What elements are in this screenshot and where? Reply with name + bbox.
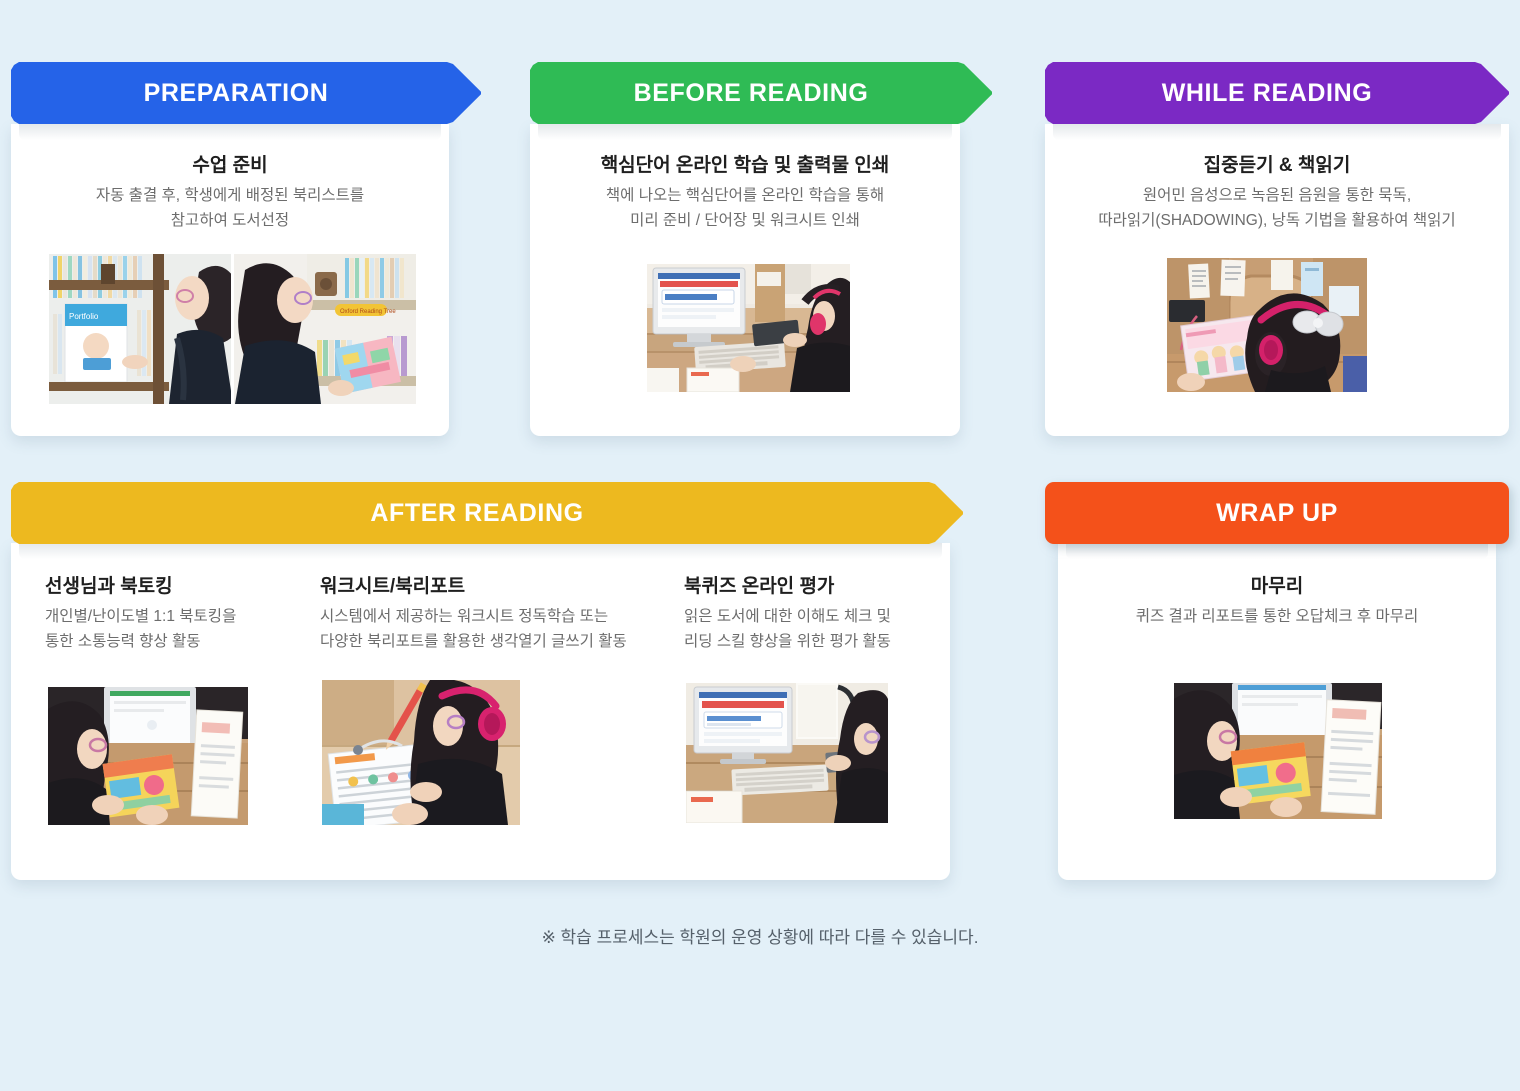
step-banner-label: PREPARATION <box>144 79 329 108</box>
step-banner-label: BEFORE READING <box>634 79 869 108</box>
item-title: 북퀴즈 온라인 평가 <box>684 575 924 600</box>
item-description: 개인별/난이도별 1:1 북토킹을 통한 소통능력 향상 활동 <box>45 604 315 654</box>
photo-illustration <box>647 264 850 392</box>
item-title: 핵심단어 온라인 학습 및 출력물 인쇄 <box>530 154 960 179</box>
step-banner-preparation: PREPARATION <box>11 62 481 124</box>
step-banner-label: WHILE READING <box>1162 79 1373 108</box>
photo-booktalking-with-teacher <box>48 687 248 825</box>
step-card-after-reading: 선생님과 북토킹 개인별/난이도별 1:1 북토킹을 통한 소통능력 향상 활동 <box>11 543 950 880</box>
svg-text:Portfolio: Portfolio <box>69 312 99 321</box>
photo-illustration <box>48 687 248 825</box>
photo-worksheet-writing <box>322 680 520 825</box>
photo-illustration <box>686 683 888 823</box>
photo-library-bookshelf: Portfolio <box>49 254 416 404</box>
step-card-preparation: 수업 준비 자동 출결 후, 학생에게 배정된 북리스트를 참고하여 도서선정 <box>11 124 449 436</box>
item-title: 선생님과 북토킹 <box>45 575 315 600</box>
photo-illustration: Portfolio <box>49 254 416 404</box>
photo-wrapup-report-review <box>1174 683 1382 819</box>
item-title: 워크시트/북리포트 <box>320 575 670 600</box>
step-banner-label: AFTER READING <box>370 499 583 528</box>
step-banner-after-reading: AFTER READING <box>11 482 963 544</box>
step-banner-label: WRAP UP <box>1216 499 1338 528</box>
step-card-while-reading: 집중듣기 & 책읽기 원어민 음성으로 녹음된 음원을 통한 묵독, 따라읽기(… <box>1045 124 1509 436</box>
step-card-before-reading: 핵심단어 온라인 학습 및 출력물 인쇄 책에 나오는 핵심단어를 온라인 학습… <box>530 124 960 436</box>
item-title: 집중듣기 & 책읽기 <box>1045 154 1509 179</box>
svg-text:Oxford Reading Tree: Oxford Reading Tree <box>340 309 396 315</box>
step-banner-before-reading: BEFORE READING <box>530 62 992 124</box>
learning-process-infographic: PREPARATION 수업 준비 자동 출결 후, 학생에게 배정된 북리스트… <box>0 0 1520 1091</box>
photo-illustration <box>322 680 520 825</box>
item-title: 마무리 <box>1058 575 1496 600</box>
item-title: 수업 준비 <box>11 154 449 179</box>
item-description: 자동 출결 후, 학생에게 배정된 북리스트를 참고하여 도서선정 <box>11 183 449 233</box>
step-card-wrap-up: 마무리 퀴즈 결과 리포트를 통한 오답체크 후 마무리 <box>1058 543 1496 880</box>
photo-headphone-book-reading <box>1167 258 1367 392</box>
item-description: 퀴즈 결과 리포트를 통한 오답체크 후 마무리 <box>1058 604 1496 629</box>
item-description: 시스템에서 제공하는 워크시트 정독학습 또는 다양한 북리포트를 활용한 생각… <box>320 604 670 654</box>
item-description: 읽은 도서에 대한 이해도 체크 및 리딩 스킬 향상을 위한 평가 활동 <box>684 604 924 654</box>
step-banner-while-reading: WHILE READING <box>1045 62 1509 124</box>
photo-online-bookquiz <box>686 683 888 823</box>
photo-desktop-vocabulary-study <box>647 264 850 392</box>
item-description: 책에 나오는 핵심단어를 온라인 학습을 통해 미리 준비 / 단어장 및 워크… <box>530 183 960 233</box>
footnote-text: ※ 학습 프로세스는 학원의 운영 상황에 따라 다를 수 있습니다. <box>0 923 1520 948</box>
photo-illustration <box>1174 683 1382 819</box>
step-banner-wrap-up: WRAP UP <box>1045 482 1509 544</box>
item-description: 원어민 음성으로 녹음된 음원을 통한 묵독, 따라읽기(SHADOWING),… <box>1045 183 1509 233</box>
photo-illustration <box>1167 258 1367 392</box>
